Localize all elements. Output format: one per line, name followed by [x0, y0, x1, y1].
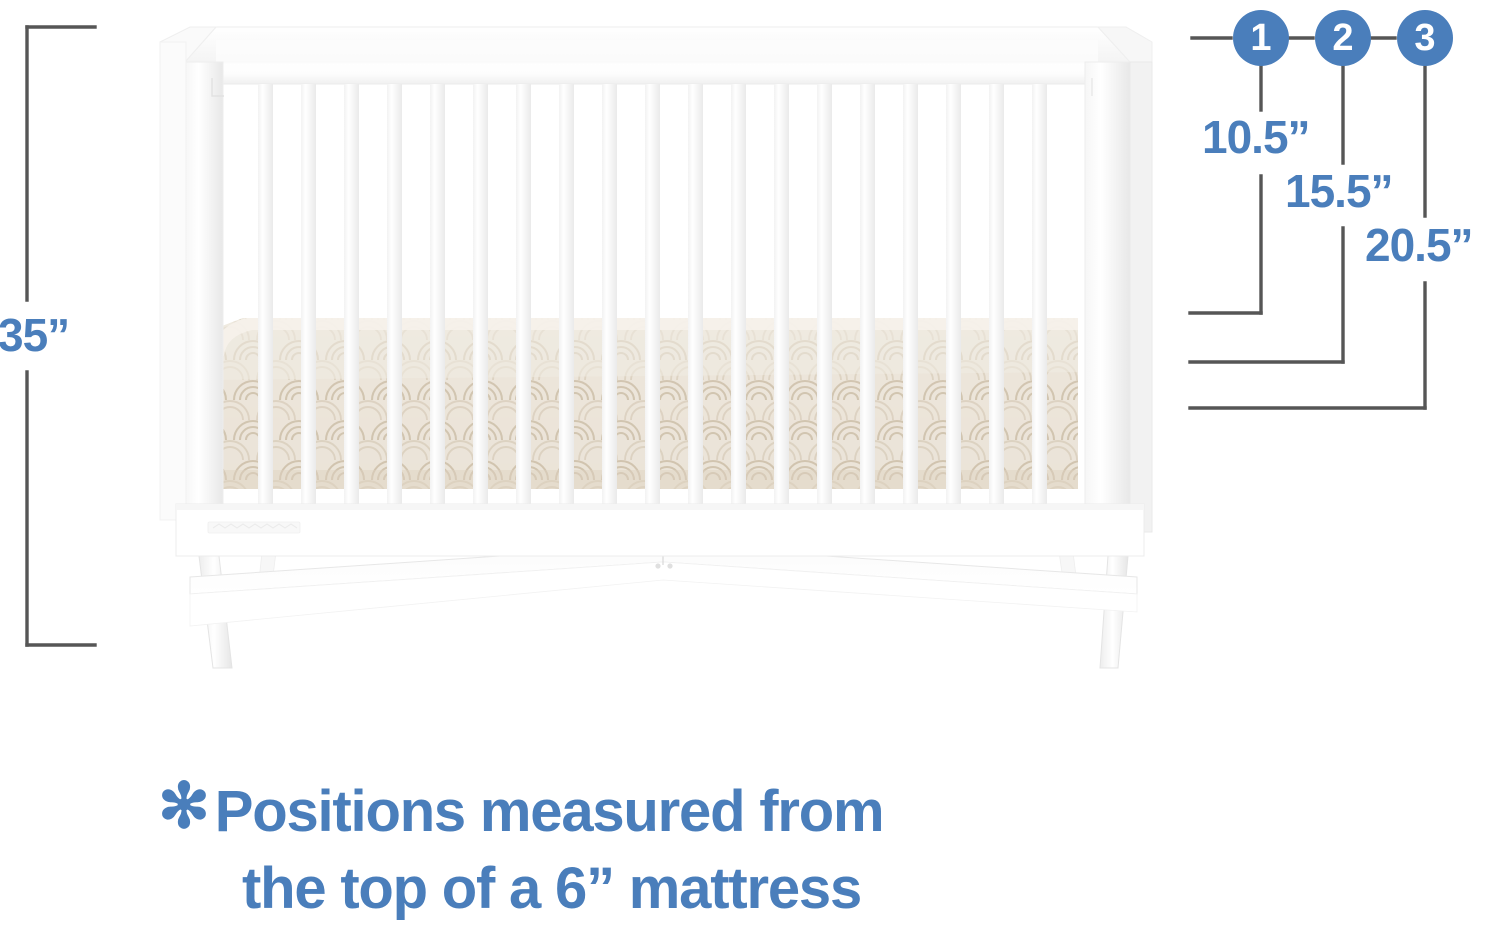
crib-lower-rail	[176, 504, 1144, 556]
caption-line-1: Positions measured from	[215, 778, 884, 845]
position-marker-3[interactable]: 3	[1397, 10, 1453, 66]
caption-line-2: the top of a 6” mattress	[242, 855, 1188, 922]
footnote-caption: ✻ Positions measured from the top of a 6…	[158, 778, 1188, 923]
brand-plate	[208, 522, 300, 533]
position-1-measurement: 10.5”	[1202, 114, 1310, 160]
position-2-measurement: 15.5”	[1285, 168, 1393, 214]
position-3-measurement: 20.5”	[1365, 222, 1473, 268]
overall-height-label: 35”	[0, 312, 69, 358]
position-marker-1[interactable]: 1	[1233, 10, 1289, 66]
asterisk-icon: ✻	[158, 778, 209, 837]
position-marker-2[interactable]: 2	[1315, 10, 1371, 66]
crib-dimension-diagram: 35” 1 2 3 10.5” 15.5” 20.5” ✻ Positions …	[0, 0, 1500, 939]
crib-base-skirt	[190, 545, 1137, 626]
